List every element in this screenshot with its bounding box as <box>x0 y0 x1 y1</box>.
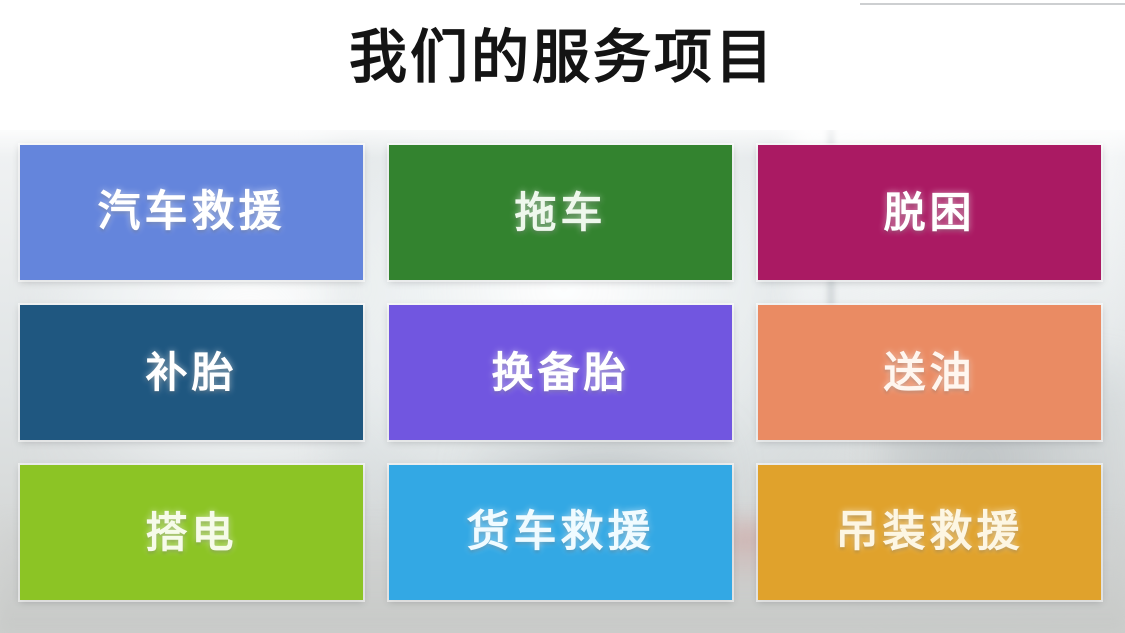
service-tile-spare-tire-change[interactable]: 换备胎 <box>389 305 732 440</box>
page-title: 我们的服务项目 <box>0 22 1125 94</box>
service-grid: 汽车救援 拖车 脱困 补胎 换备胎 送油 搭电 货车救援 吊装救援 <box>20 145 1101 600</box>
service-tile-label: 换备胎 <box>491 352 629 394</box>
service-tile-label: 汽车救援 <box>98 191 286 234</box>
service-tile-towing[interactable]: 拖车 <box>389 145 732 280</box>
service-tile-car-rescue[interactable]: 汽车救援 <box>20 145 363 280</box>
service-tile-label: 脱困 <box>883 192 975 234</box>
service-tile-label: 吊装救援 <box>836 511 1024 554</box>
service-tile-crane-lifting-rescue[interactable]: 吊装救援 <box>758 465 1101 600</box>
service-tile-label: 搭电 <box>145 512 237 554</box>
service-poster: 我们的服务项目 汽车救援 拖车 脱困 补胎 换备胎 送油 搭电 货车救援 吊装救… <box>0 0 1125 633</box>
service-tile-label: 送油 <box>883 352 975 394</box>
service-tile-truck-rescue[interactable]: 货车救援 <box>389 465 732 600</box>
service-tile-fuel-delivery[interactable]: 送油 <box>758 305 1101 440</box>
service-tile-label: 货车救援 <box>467 511 655 554</box>
service-tile-label: 补胎 <box>145 352 237 394</box>
background-hairline-artifact <box>860 3 1125 5</box>
service-tile-tire-repair[interactable]: 补胎 <box>20 305 363 440</box>
service-tile-jump-start[interactable]: 搭电 <box>20 465 363 600</box>
service-tile-extrication[interactable]: 脱困 <box>758 145 1101 280</box>
service-tile-label: 拖车 <box>514 192 606 234</box>
